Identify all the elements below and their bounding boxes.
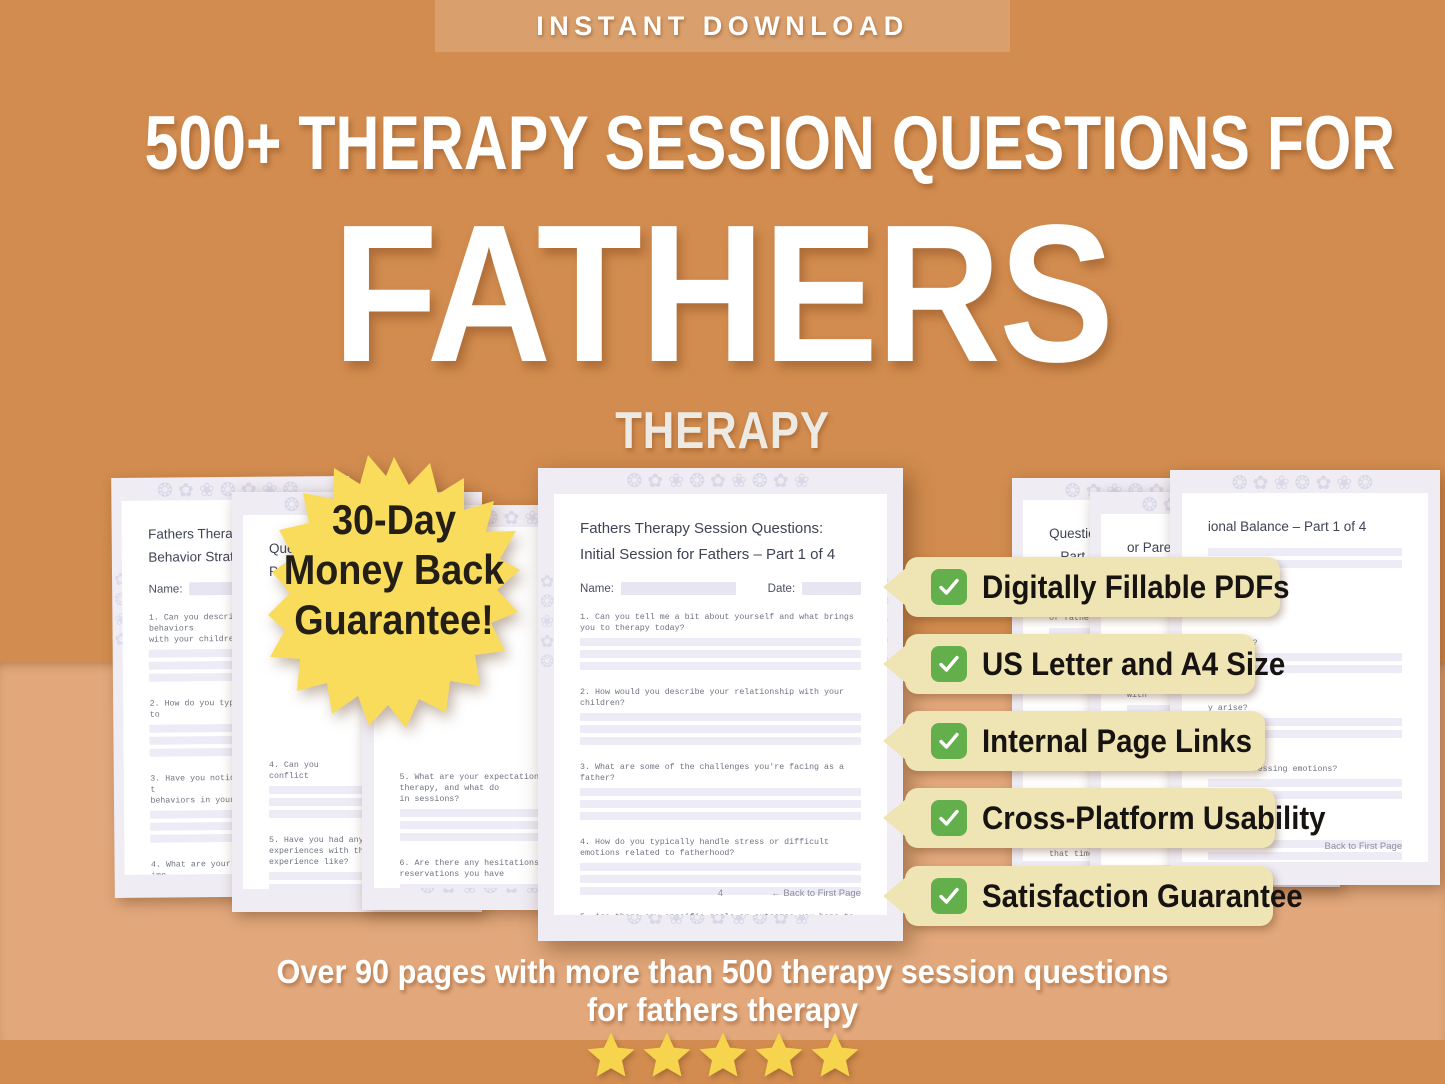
date-field[interactable]	[802, 582, 861, 595]
feature-item-satisfaction-guarantee[interactable]: Satisfaction Guarantee	[905, 866, 1273, 926]
badge-line-2: Money Back	[281, 545, 508, 595]
feature-label: Digitally Fillable PDFs	[982, 570, 1290, 604]
doc-title-line2: ional Balance – Part 1 of 4	[1208, 515, 1402, 538]
answer-lines[interactable]	[580, 638, 861, 670]
instant-download-label: INSTANT DOWNLOAD	[536, 11, 908, 42]
bottom-caption: Over 90 pages with more than 500 therapy…	[51, 953, 1395, 1029]
money-back-guarantee-badge: 30-Day Money Back Guarantee!	[268, 455, 520, 730]
star-icon	[640, 1029, 694, 1081]
poster-canvas: INSTANT DOWNLOAD 500+ THERAPY SESSION QU…	[0, 0, 1445, 1084]
question-text: 5. Are there any specific goals or outco…	[580, 912, 861, 915]
name-label: Name:	[149, 583, 183, 595]
back-to-first-page-link[interactable]: ← Back to First Page	[771, 888, 861, 899]
feature-item-cross-platform-usability[interactable]: Cross-Platform Usability	[905, 788, 1275, 848]
check-icon	[931, 878, 967, 914]
check-icon	[931, 800, 967, 836]
name-label: Name:	[580, 583, 614, 595]
question-text: 4. How do you typically handle stress or…	[580, 837, 861, 859]
back-to-first-page-link[interactable]: Back to First Page	[1325, 841, 1403, 852]
feature-item-digitally-fillable-pdfs[interactable]: Digitally Fillable PDFs	[905, 557, 1280, 617]
feature-label: Internal Page Links	[982, 724, 1252, 758]
star-icon	[584, 1029, 638, 1081]
caption-line-1: Over 90 pages with more than 500 therapy…	[51, 953, 1395, 991]
question-text: 1. Can you tell me a bit about yourself …	[580, 612, 861, 634]
name-field[interactable]	[621, 582, 736, 595]
answer-lines[interactable]	[580, 788, 861, 820]
check-icon	[931, 723, 967, 759]
question-text: 3. What are some of the challenges you'r…	[580, 762, 861, 784]
date-label: Date:	[768, 583, 796, 595]
star-icon	[752, 1029, 806, 1081]
instant-download-banner: INSTANT DOWNLOAD	[435, 0, 1010, 52]
question-text: 2. How would you describe your relations…	[580, 687, 861, 709]
feature-label: Cross-Platform Usability	[982, 801, 1326, 835]
star-icon	[696, 1029, 750, 1081]
doc-title-line2: Initial Session for Fathers – Part 1 of …	[580, 542, 861, 568]
headline-primary: 500+ THERAPY SESSION QUESTIONS FOR	[145, 104, 1301, 184]
feature-item-us-letter-and-a4-size[interactable]: US Letter and A4 Size	[905, 634, 1255, 694]
badge-line-3: Guarantee!	[281, 595, 508, 645]
document-preview-center: ❂✿❀❂✿❀❂✿❀ ❂✿❀❂✿❀❂✿❀ ✿❂❀✿❂ ✿❂❀✿❂ Fathers …	[538, 468, 903, 941]
badge-line-1: 30-Day	[281, 495, 508, 545]
page-number: 4	[718, 888, 723, 899]
caption-line-2: for fathers therapy	[51, 991, 1395, 1029]
star-rating	[0, 1029, 1445, 1081]
check-icon	[931, 646, 967, 682]
page-footer: 4 ← Back to First Page	[580, 888, 861, 899]
feature-label: Satisfaction Guarantee	[982, 879, 1303, 913]
answer-lines[interactable]	[580, 713, 861, 745]
check-icon	[931, 569, 967, 605]
star-icon	[808, 1029, 862, 1081]
feature-label: US Letter and A4 Size	[982, 647, 1285, 681]
headline-topic: FATHERS	[87, 196, 1359, 392]
feature-item-internal-page-links[interactable]: Internal Page Links	[905, 711, 1265, 771]
doc-title-line1: Fathers Therapy Session Questions:	[580, 516, 861, 542]
headline-subtitle: THERAPY	[116, 404, 1330, 458]
